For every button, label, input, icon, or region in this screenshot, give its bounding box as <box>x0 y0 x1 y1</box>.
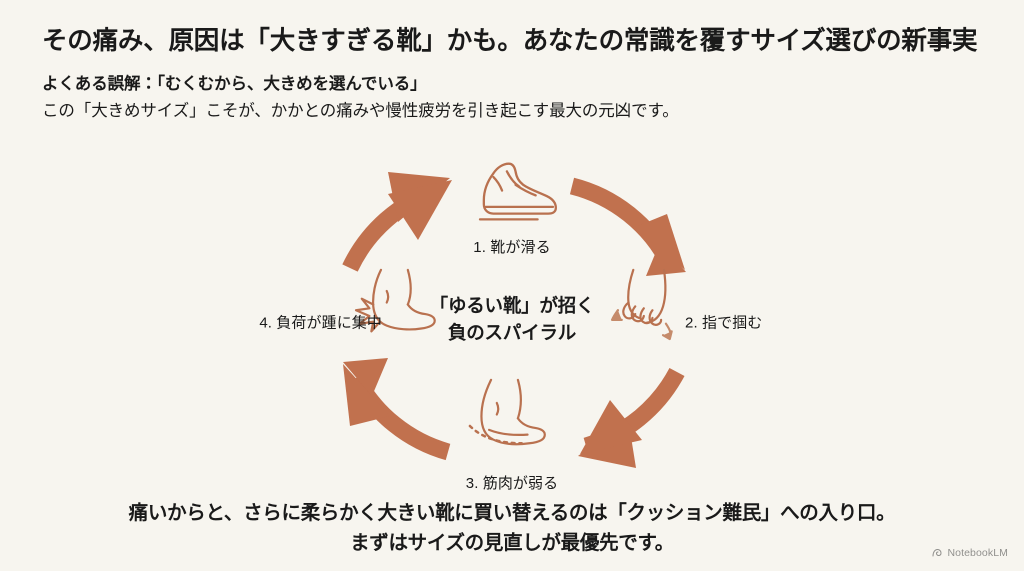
arrow-step-1-to-2 <box>572 186 686 276</box>
sneaker-icon <box>480 164 556 220</box>
subtitle-block: よくある誤解：「むくむから、大きめを選んでいる」 この「大きめサイズ」こそが、か… <box>42 72 992 125</box>
cycle-step-label-3: 3. 筋肉が弱る <box>466 472 558 493</box>
conclusion-block: 痛いからと、さらに柔らかく大きい靴に買い替えるのは「クッション難民」への入り口。… <box>0 498 1024 558</box>
gripping-toes-foot-icon <box>612 270 672 339</box>
conclusion-line-1: 痛いからと、さらに柔らかく大きい靴に買い替えるのは「クッション難民」への入り口。 <box>0 498 1024 528</box>
subtitle-explanation: この「大きめサイズ」こそが、かかとの痛みや慢性疲労を引き起こす最大の元凶です。 <box>42 99 992 125</box>
page-title: その痛み、原因は「大きすぎる靴」かも。あなたの常識を覆すサイズ選びの新事実 <box>42 26 992 58</box>
negative-spiral-cycle-diagram: 「ゆるい靴」が招く 負のスパイラル 1. 靴が滑る 2. 指で掴む 3. 筋肉が… <box>180 150 844 490</box>
arrow-step-3-to-4 <box>343 358 448 452</box>
notebooklm-watermark: NotebookLM <box>931 547 1008 559</box>
cycle-step-label-4: 4. 負荷が踵に集中 <box>259 312 382 333</box>
conclusion-line-2: まずはサイズの見直しが最優先です。 <box>0 528 1024 558</box>
arrow-step-2-to-3 <box>578 372 677 468</box>
notebooklm-icon <box>931 547 943 559</box>
cycle-step-label-2: 2. 指で掴む <box>685 312 762 333</box>
weak-arch-foot-icon <box>470 380 545 444</box>
arrow-step-4-to-1 <box>350 172 452 268</box>
infographic-slide: その痛み、原因は「大きすぎる靴」かも。あなたの常識を覆すサイズ選びの新事実 よく… <box>0 0 1024 571</box>
header: その痛み、原因は「大きすぎる靴」かも。あなたの常識を覆すサイズ選びの新事実 よく… <box>42 26 992 125</box>
subtitle-misconception: よくある誤解：「むくむから、大きめを選んでいる」 <box>42 72 992 98</box>
notebooklm-label: NotebookLM <box>947 547 1008 559</box>
cycle-step-label-1: 1. 靴が滑る <box>473 236 550 257</box>
